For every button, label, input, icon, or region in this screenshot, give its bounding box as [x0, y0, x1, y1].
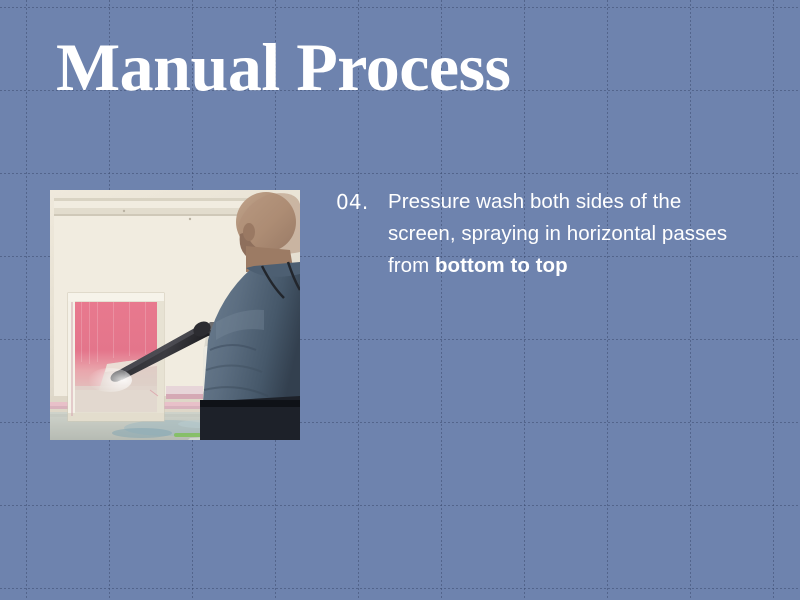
grid-line-vertical [773, 0, 774, 600]
grid-line-horizontal [0, 173, 800, 174]
step-number: 04. [336, 186, 388, 218]
step-photo-image [50, 190, 300, 440]
step-text: Pressure wash both sides of the screen, … [388, 186, 748, 282]
grid-line-horizontal [0, 588, 800, 589]
step-photo [50, 190, 300, 440]
step-text-emphasis: bottom to top [435, 254, 568, 277]
page-title: Manual Process [56, 33, 511, 101]
grid-line-vertical [524, 0, 525, 600]
grid-line-vertical [607, 0, 608, 600]
slide-canvas: Manual Process [0, 0, 800, 600]
grid-line-vertical [26, 0, 27, 600]
step-block: 04. Pressure wash both sides of the scre… [336, 186, 748, 282]
grid-line-horizontal [0, 505, 800, 506]
grid-line-vertical [690, 0, 691, 600]
grid-line-horizontal [0, 7, 800, 8]
